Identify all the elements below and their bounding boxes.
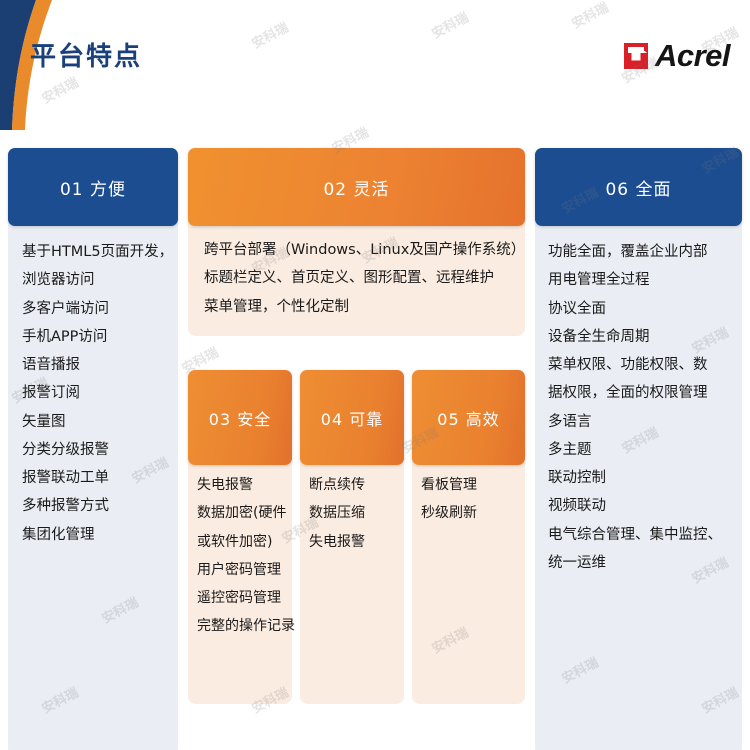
card-title-06: 06 全面 (605, 175, 671, 200)
feature-column-03: 03 安全 失电报警 数据加密(硬件 或软件加密) 用户密码管理 遥控密码管理 … (188, 370, 292, 704)
card-title-02: 02 灵活 (323, 175, 389, 200)
card-title-01: 01 方便 (60, 175, 126, 200)
list-item: 完整的操作记录 (197, 612, 283, 640)
card-header-03[interactable]: 03 安全 (188, 370, 292, 465)
list-item: 协议全面 (548, 295, 734, 323)
list-item: 用户密码管理 (197, 556, 283, 584)
list-item: 电气综合管理、集中监控、 (548, 521, 734, 549)
card-header-06[interactable]: 06 全面 (535, 148, 742, 226)
acrel-logo-svg (623, 42, 649, 70)
card-header-05[interactable]: 05 高效 (412, 370, 525, 465)
list-item: 多语言 (548, 408, 734, 436)
feature-column-02: 02 灵活 跨平台部署（Windows、Linux及国产操作系统） 标题栏定义、… (188, 148, 525, 336)
list-item: 多主题 (548, 436, 734, 464)
brand-name: Acrel (655, 40, 730, 71)
list-item: 报警订阅 (22, 379, 164, 407)
list-item: 跨平台部署（Windows、Linux及国产操作系统） (204, 236, 509, 264)
list-item: 据权限，全面的权限管理 (548, 379, 734, 407)
page-title: 平台特点 (30, 44, 142, 70)
feature-column-05: 05 高效 看板管理 秒级刷新 (412, 370, 525, 704)
card-title-04: 04 可靠 (321, 406, 383, 430)
list-item: 失电报警 (309, 528, 395, 556)
slide-header: 平台特点 Acrel (0, 0, 750, 130)
list-item: 功能全面，覆盖企业内部 (548, 238, 734, 266)
list-item: 多客户端访问 (22, 295, 164, 323)
slide-canvas: 平台特点 Acrel 01 方便 基于HTML5页面开发， 浏览器访问 (0, 0, 750, 750)
list-item: 分类分级报警 (22, 436, 164, 464)
card-title-05: 05 高效 (437, 406, 499, 430)
list-item: 数据加密(硬件 (197, 499, 283, 527)
list-item: 语音播报 (22, 351, 164, 379)
list-item: 基于HTML5页面开发， (22, 238, 164, 266)
list-item: 数据压缩 (309, 499, 395, 527)
feature-column-01: 01 方便 基于HTML5页面开发， 浏览器访问 多客户端访问 手机APP访问 … (8, 148, 178, 750)
list-item: 统一运维 (548, 549, 734, 577)
card-body-05: 看板管理 秒级刷新 (412, 455, 525, 704)
list-item: 集团化管理 (22, 521, 164, 549)
card-header-04[interactable]: 04 可靠 (300, 370, 404, 465)
card-body-03: 失电报警 数据加密(硬件 或软件加密) 用户密码管理 遥控密码管理 完整的操作记… (188, 455, 292, 704)
feature-column-04: 04 可靠 断点续传 数据压缩 失电报警 (300, 370, 404, 704)
list-item: 视频联动 (548, 492, 734, 520)
list-item: 浏览器访问 (22, 266, 164, 294)
card-body-06: 功能全面，覆盖企业内部 用电管理全过程 协议全面 设备全生命周期 菜单权限、功能… (535, 216, 742, 750)
list-item: 遥控密码管理 (197, 584, 283, 612)
list-item: 多种报警方式 (22, 492, 164, 520)
list-item: 断点续传 (309, 471, 395, 499)
list-item: 手机APP访问 (22, 323, 164, 351)
card-body-04: 断点续传 数据压缩 失电报警 (300, 455, 404, 704)
list-item: 标题栏定义、首页定义、图形配置、远程维护 (204, 264, 509, 292)
list-item: 菜单管理，个性化定制 (204, 293, 509, 321)
card-body-02: 跨平台部署（Windows、Linux及国产操作系统） 标题栏定义、首页定义、图… (188, 216, 525, 336)
list-item: 矢量图 (22, 408, 164, 436)
list-item: 用电管理全过程 (548, 266, 734, 294)
list-item: 或软件加密) (197, 528, 283, 556)
sub-feature-row: 03 安全 失电报警 数据加密(硬件 或软件加密) 用户密码管理 遥控密码管理 … (188, 370, 525, 714)
card-header-02[interactable]: 02 灵活 (188, 148, 525, 226)
list-item: 看板管理 (421, 471, 516, 499)
acrel-logo-icon (623, 42, 649, 70)
feature-column-06: 06 全面 功能全面，覆盖企业内部 用电管理全过程 协议全面 设备全生命周期 菜… (535, 148, 742, 750)
list-item: 设备全生命周期 (548, 323, 734, 351)
list-item: 联动控制 (548, 464, 734, 492)
card-header-01[interactable]: 01 方便 (8, 148, 178, 226)
list-item: 菜单权限、功能权限、数 (548, 351, 734, 379)
brand-logo: Acrel (623, 40, 730, 71)
list-item: 报警联动工单 (22, 464, 164, 492)
card-body-01: 基于HTML5页面开发， 浏览器访问 多客户端访问 手机APP访问 语音播报 报… (8, 216, 178, 750)
list-item: 失电报警 (197, 471, 283, 499)
list-item: 秒级刷新 (421, 499, 516, 527)
features-board: 01 方便 基于HTML5页面开发， 浏览器访问 多客户端访问 手机APP访问 … (0, 148, 750, 714)
card-title-03: 03 安全 (209, 406, 271, 430)
